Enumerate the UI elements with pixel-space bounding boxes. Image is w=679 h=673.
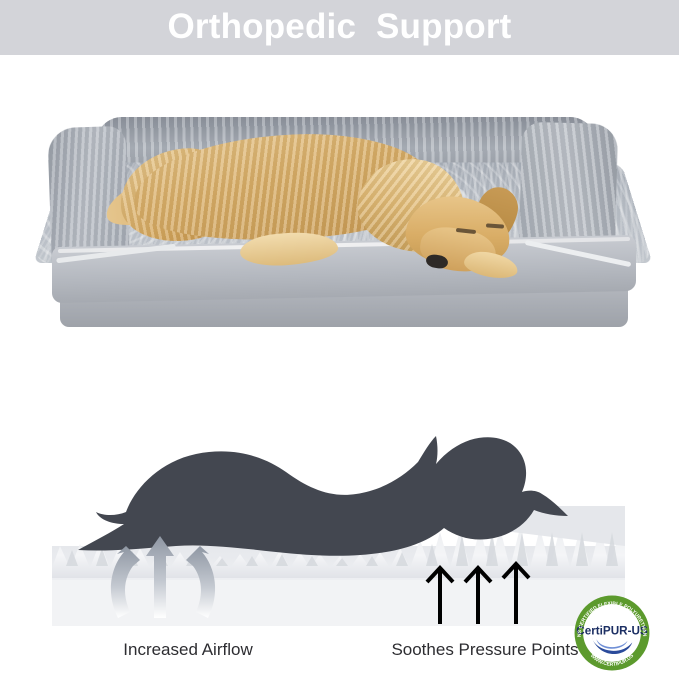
dog-paw bbox=[462, 248, 519, 281]
airflow-arrows bbox=[111, 536, 215, 618]
caption-increased-airflow: Increased Airflow bbox=[58, 640, 318, 660]
dog-silhouette bbox=[78, 436, 568, 556]
dog-bed-illustration bbox=[0, 55, 679, 328]
certipur-us-badge: CertiPUR-US CONTAINS CERTIFIED FLEXIBLE … bbox=[573, 594, 651, 672]
golden-retriever-dog bbox=[120, 125, 520, 295]
hero-product-photo bbox=[0, 55, 679, 328]
badge-wordmark: CertiPUR-US bbox=[576, 625, 648, 638]
certipur-badge-svg: CertiPUR-US CONTAINS CERTIFIED FLEXIBLE … bbox=[573, 594, 651, 672]
page-title: Orthopedic Support bbox=[0, 2, 679, 52]
product-infographic: Orthopedic Support bbox=[0, 0, 679, 673]
hardness-scale: Too soft 1 Lack of support Moderate hard… bbox=[0, 328, 679, 428]
